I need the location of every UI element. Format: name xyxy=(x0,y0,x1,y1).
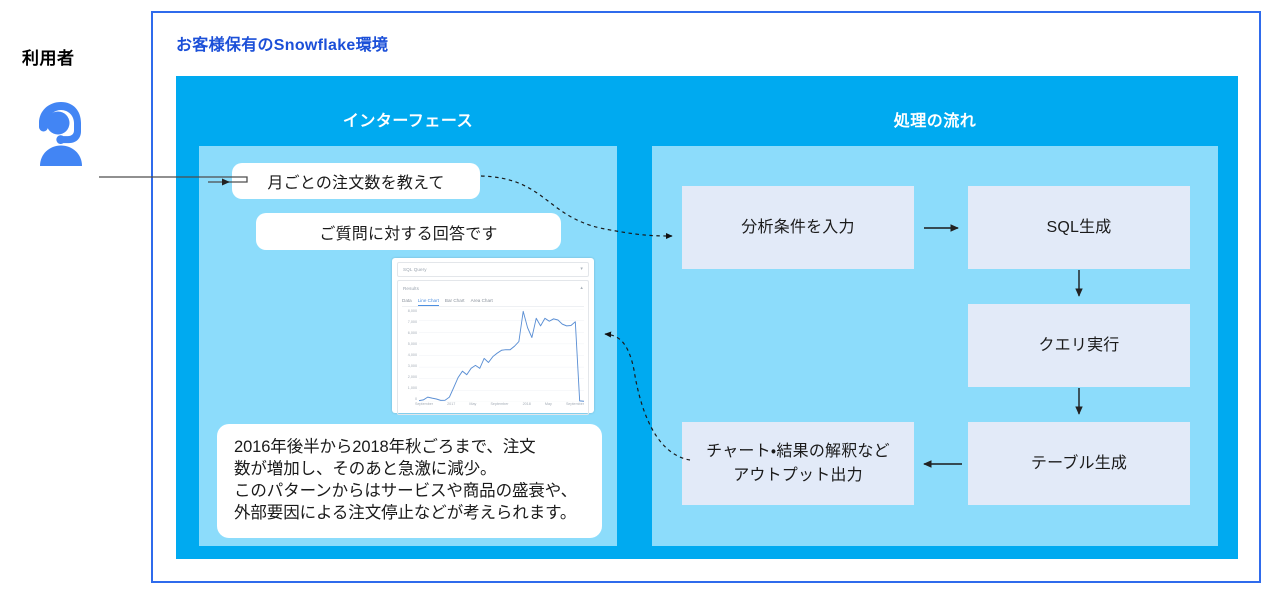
flow-box-label: アウトプット出力 xyxy=(733,464,863,487)
results-body: Data Line Chart Bar Chart Area Chart 8,0… xyxy=(397,295,589,415)
flow-box-table-generation: テーブル生成 xyxy=(968,422,1190,505)
line-chart-plot xyxy=(419,309,584,412)
x-tick: 2018 xyxy=(523,403,531,412)
summary-line: 外部要因による注文停止などが考えられます。 xyxy=(234,502,585,524)
tab-bar-chart[interactable]: Bar Chart xyxy=(445,298,465,303)
y-axis-ticks: 8,000 7,000 6,000 5,000 4,000 3,000 2,00… xyxy=(402,309,419,412)
y-tick: 7,000 xyxy=(408,321,417,325)
results-label: Results xyxy=(403,286,419,291)
tab-area-chart[interactable]: Area Chart xyxy=(471,298,493,303)
chevron-down-icon: ▾ xyxy=(580,267,583,272)
flow-box-input: 分析条件を入力 xyxy=(682,186,914,269)
chevron-up-icon: ▴ xyxy=(580,286,583,291)
summary-line: 2016年後半から2018年秋ごろまで、注文 xyxy=(234,436,585,458)
flow-box-label: チャート・結果の解釈など xyxy=(706,440,890,463)
y-tick: 5,000 xyxy=(408,343,417,347)
x-axis-ticks: September 2017 May September 2018 May Se… xyxy=(419,403,584,412)
flow-panel-header: 処理の流れ xyxy=(652,107,1218,131)
flow-box-label: 分析条件を入力 xyxy=(741,216,854,239)
flow-box-label: SQL生成 xyxy=(1046,216,1111,239)
flow-box-label: クエリ実行 xyxy=(1038,334,1119,357)
y-tick: 8,000 xyxy=(408,310,417,314)
sql-query-accordion[interactable]: SQL Query ▾ xyxy=(397,262,589,277)
flow-box-query-execution: クエリ実行 xyxy=(968,304,1190,387)
x-tick: May xyxy=(469,403,476,412)
y-tick: 2,000 xyxy=(408,376,417,380)
y-tick: 3,000 xyxy=(408,365,417,369)
tab-data[interactable]: Data xyxy=(402,298,412,303)
flow-box-label: テーブル生成 xyxy=(1031,452,1127,475)
summary-bubble: 2016年後半から2018年秋ごろまで、注文 数が増加し、そのあと急激に減少。 … xyxy=(217,424,602,538)
flow-box-output: チャート・結果の解釈など アウトプット出力 xyxy=(682,422,914,505)
tab-line-chart[interactable]: Line Chart xyxy=(418,298,439,303)
chat-bubble-question: 月ごとの注文数を教えて xyxy=(232,163,480,199)
chart-widget[interactable]: SQL Query ▾ Results ▴ Data Line Chart Ba… xyxy=(392,258,594,413)
y-tick: 4,000 xyxy=(408,354,417,358)
x-tick: 2017 xyxy=(447,403,455,412)
sql-query-label: SQL Query xyxy=(403,267,427,272)
x-tick: September xyxy=(566,403,584,412)
y-tick: 1,000 xyxy=(408,387,417,391)
x-tick: September xyxy=(490,403,508,412)
results-accordion[interactable]: Results ▴ xyxy=(397,280,589,295)
chart-tabs: Data Line Chart Bar Chart Area Chart xyxy=(402,298,584,307)
interface-panel-header: インターフェース xyxy=(198,107,618,131)
y-tick: 0 xyxy=(415,398,417,402)
actor-label: 利用者 xyxy=(22,44,75,69)
frame-title: お客様保有のSnowflake環境 xyxy=(176,31,388,55)
user-headset-icon xyxy=(24,96,98,170)
y-tick: 6,000 xyxy=(408,332,417,336)
x-tick: May xyxy=(545,403,552,412)
summary-line: 数が増加し、そのあと急激に減少。 xyxy=(234,458,585,480)
flow-box-sql-generation: SQL生成 xyxy=(968,186,1190,269)
plot-area: 8,000 7,000 6,000 5,000 4,000 3,000 2,00… xyxy=(402,309,584,412)
x-tick: September xyxy=(415,403,433,412)
summary-line: このパターンからはサービスや商品の盛衰や、 xyxy=(234,480,585,502)
chat-bubble-answer: ご質問に対する回答です xyxy=(256,213,561,250)
diagram-canvas: 利用者 お客様保有のSnowflake環境 インターフェース 処理の流れ 月ごと… xyxy=(0,0,1280,604)
